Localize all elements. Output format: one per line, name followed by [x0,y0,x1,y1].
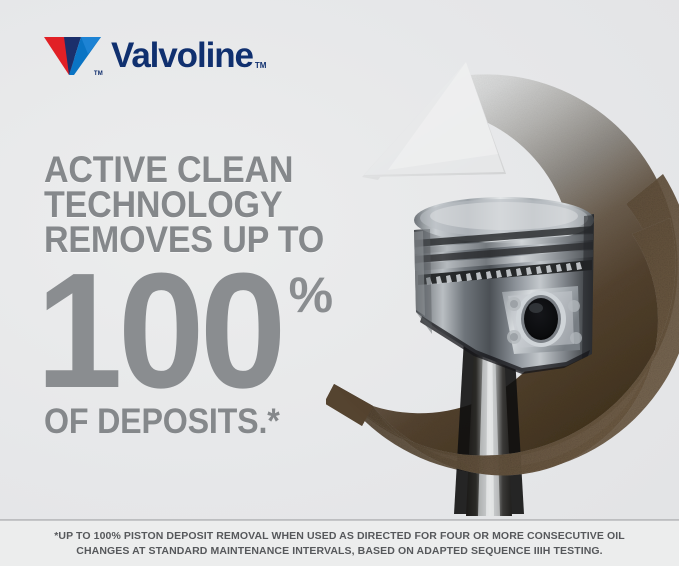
big-number-value: 100 [36,258,282,404]
footer-disclaimer: *UP TO 100% PISTON DEPOSIT REMOVAL WHEN … [0,521,679,566]
big-number-block: 100 % [36,258,333,404]
hero-illustration [326,54,679,520]
valvoline-logo[interactable]: TM Valvoline TM [44,34,266,78]
wrist-pin-bore [524,298,558,340]
headline-line-2: TECHNOLOGY [44,187,338,222]
headline-line-1: ACTIVE CLEAN [44,152,338,187]
valvoline-v-mark-icon: TM [44,36,102,76]
logo-mark-trademark: TM [94,71,103,77]
advertisement-canvas: TM Valvoline TM ACTIVE CLEAN TECHNOLOGY … [0,0,679,566]
valvoline-wordmark-text: Valvoline [111,39,253,72]
footer-line-2: CHANGES AT STANDARD MAINTENANCE INTERVAL… [76,545,602,557]
headline-subline: OF DEPOSITS.* [44,405,280,439]
footer-line-1: *UP TO 100% PISTON DEPOSIT REMOVAL WHEN … [54,530,625,542]
valvoline-wordmark: Valvoline TM [111,39,266,72]
wordmark-trademark: TM [255,61,267,70]
